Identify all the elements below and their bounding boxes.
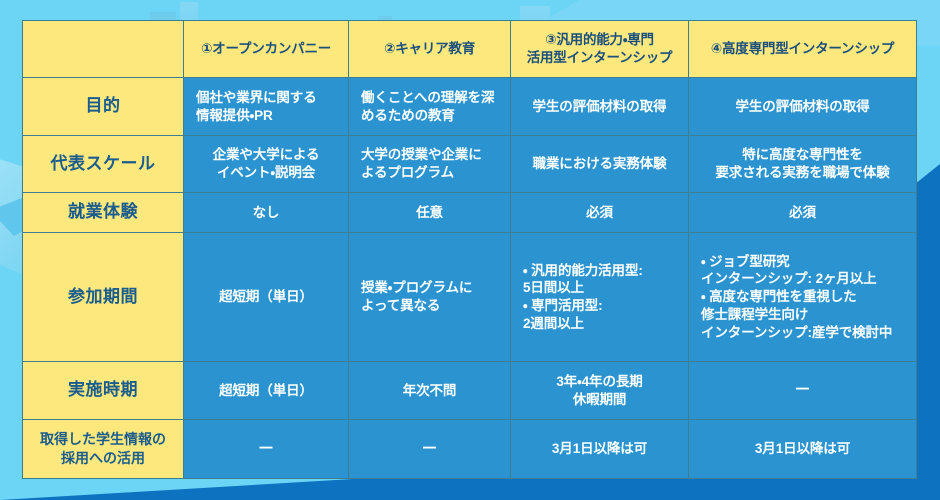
cell-implementation-timing-col1: 超短期（単日） [184, 362, 349, 419]
cell-implementation-timing-col2: 年次不問 [349, 362, 511, 419]
cell-representative-scale-col4: 特に高度な専門性を要求される実務を職場で体験 [689, 135, 917, 192]
table-row: 参加期間超短期（単日）授業・プログラムによって異なる・ 汎用的能力活用型:5日間… [23, 232, 917, 361]
cell-participation-period-col2: 授業・プログラムによって異なる [349, 232, 511, 361]
column-header-advanced-specialized-internship: ④高度専門型インターンシップ [689, 21, 917, 78]
row-label-purpose: 目的 [23, 78, 184, 135]
row-label-participation-period: 参加期間 [23, 232, 184, 361]
column-header-text-3: ④高度専門型インターンシップ [694, 40, 911, 58]
cell-work-experience-col4: 必須 [689, 193, 917, 233]
cell-use-of-student-information-col2: － [349, 419, 511, 478]
column-header-text-2: ③汎用的能力・専門活用型インターンシップ [516, 31, 683, 67]
table-row: 目的個社や業界に関する情報提供・PR働くことへの理解を深めるための教育学生の評価… [23, 78, 917, 135]
cell-participation-period-col1: 超短期（単日） [184, 232, 349, 361]
cell-purpose-col3: 学生の評価材料の取得 [511, 78, 689, 135]
cell-purpose-col4: 学生の評価材料の取得 [689, 78, 917, 135]
column-header-career-education: ②キャリア教育 [349, 21, 511, 78]
table-row: 実施時期超短期（単日）年次不問3年・4年の長期休暇期間－ [23, 362, 917, 419]
table-body: 目的個社や業界に関する情報提供・PR働くことへの理解を深めるための教育学生の評価… [23, 78, 917, 479]
cell-use-of-student-information-col1: － [184, 419, 349, 478]
column-header-general-specialized-internship: ③汎用的能力・専門活用型インターンシップ [511, 21, 689, 78]
cell-work-experience-col3: 必須 [511, 193, 689, 233]
cell-purpose-col2: 働くことへの理解を深めるための教育 [349, 78, 511, 135]
row-label-implementation-timing: 実施時期 [23, 362, 184, 419]
cell-implementation-timing-col4: － [689, 362, 917, 419]
column-header-open-company: ①オープンカンパニー [184, 21, 349, 78]
cell-representative-scale-col1: 企業や大学によるイベント・説明会 [184, 135, 349, 192]
cell-representative-scale-col3: 職業における実務体験 [511, 135, 689, 192]
cell-purpose-col1: 個社や業界に関する情報提供・PR [184, 78, 349, 135]
cell-implementation-timing-col3: 3年・4年の長期休暇期間 [511, 362, 689, 419]
row-label-use-of-student-information: 取得した学生情報の採用への活用 [23, 419, 184, 478]
table-row: 取得した学生情報の採用への活用－－3月1日以降は可3月1日以降は可 [23, 419, 917, 478]
table-header-row: ①オープンカンパニー ②キャリア教育 ③汎用的能力・専門活用型インターンシップ … [23, 21, 917, 78]
table-row: 代表スケール企業や大学によるイベント・説明会大学の授業や企業によるプログラム職業… [23, 135, 917, 192]
cell-use-of-student-information-col3: 3月1日以降は可 [511, 419, 689, 478]
column-header-text-1: ②キャリア教育 [354, 40, 505, 58]
cell-use-of-student-information-col4: 3月1日以降は可 [689, 419, 917, 478]
column-header-text-0: ①オープンカンパニー [189, 40, 343, 58]
internship-comparison-table: ①オープンカンパニー ②キャリア教育 ③汎用的能力・専門活用型インターンシップ … [22, 20, 917, 479]
cell-work-experience-col1: なし [184, 193, 349, 233]
table-corner-cell [23, 21, 184, 78]
cell-participation-period-col3: ・ 汎用的能力活用型:5日間以上・ 専門活用型:2週間以上 [511, 232, 689, 361]
cell-participation-period-col4: ・ ジョブ型研究インターンシップ: 2ヶ月以上・ 高度な専門性を重視した修士課程… [689, 232, 917, 361]
row-label-work-experience: 就業体験 [23, 193, 184, 233]
row-label-representative-scale: 代表スケール [23, 135, 184, 192]
cell-work-experience-col2: 任意 [349, 193, 511, 233]
cell-representative-scale-col2: 大学の授業や企業によるプログラム [349, 135, 511, 192]
comparison-table-container: ①オープンカンパニー ②キャリア教育 ③汎用的能力・専門活用型インターンシップ … [22, 20, 916, 479]
table-row: 就業体験なし任意必須必須 [23, 193, 917, 233]
